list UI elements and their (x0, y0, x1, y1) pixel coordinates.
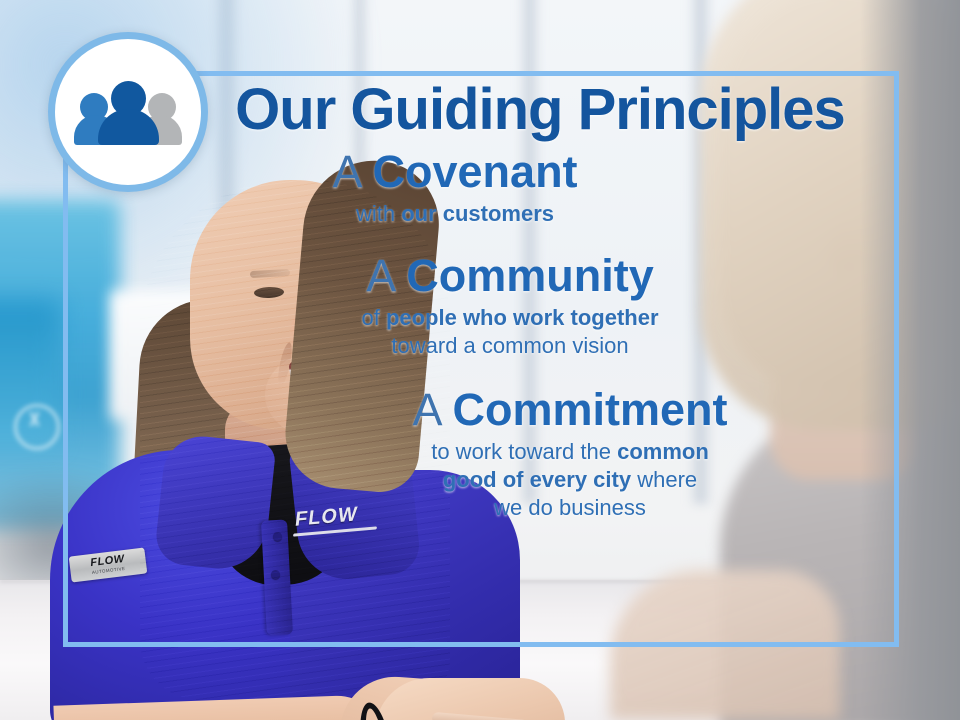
principle-keyword: Commitment (453, 384, 728, 435)
principle-subtext-line: to work toward the common (260, 438, 880, 466)
principle-subtext-line: toward a common vision (200, 332, 820, 360)
principle-lead: A (332, 146, 360, 197)
page-title: Our Guiding Principles (200, 80, 880, 140)
principle-keyword: Covenant (373, 146, 578, 197)
banner-canvas: FLOW AUTOMOTIVE FLOW (0, 0, 960, 720)
principle-subtext-line: good of every city where (260, 466, 880, 494)
principle-community: A Community of people who work together … (200, 252, 880, 360)
principle-subtext-regular: of (361, 305, 385, 330)
principle-subtext-bold: our customers (401, 201, 554, 226)
principle-commitment: A Commitment to work toward the common g… (200, 386, 880, 522)
principle-subtext: to work toward the common good of every … (200, 438, 880, 522)
people-group-badge (48, 32, 208, 192)
principle-covenant: A Covenant with our customers (200, 148, 880, 228)
principle-subtext-regular: to work toward the (431, 439, 617, 464)
principle-subtext-bold: common (617, 439, 709, 464)
principle-title: A Covenant (200, 148, 880, 196)
principles-text-block: Our Guiding Principles A Covenant with o… (200, 80, 880, 522)
principle-lead: A (366, 250, 394, 301)
customer-hand (610, 570, 840, 720)
principle-subtext-line: of people who work together (200, 304, 820, 332)
principle-keyword: Community (406, 250, 654, 301)
principle-lead: A (412, 384, 440, 435)
principle-subtext-regular: with (356, 201, 401, 226)
principle-subtext-bold: good of every city (443, 467, 631, 492)
principle-subtext-line: we do business (260, 494, 880, 522)
principle-title: A Commitment (200, 386, 880, 434)
principle-subtext: with our customers (200, 200, 880, 228)
principle-title: A Community (200, 252, 880, 300)
clasped-hands (375, 678, 565, 720)
principle-subtext-regular: where (631, 467, 697, 492)
principle-subtext: of people who work together toward a com… (200, 304, 880, 360)
principle-subtext-bold: people who work together (386, 305, 659, 330)
people-group-icon (76, 79, 180, 145)
